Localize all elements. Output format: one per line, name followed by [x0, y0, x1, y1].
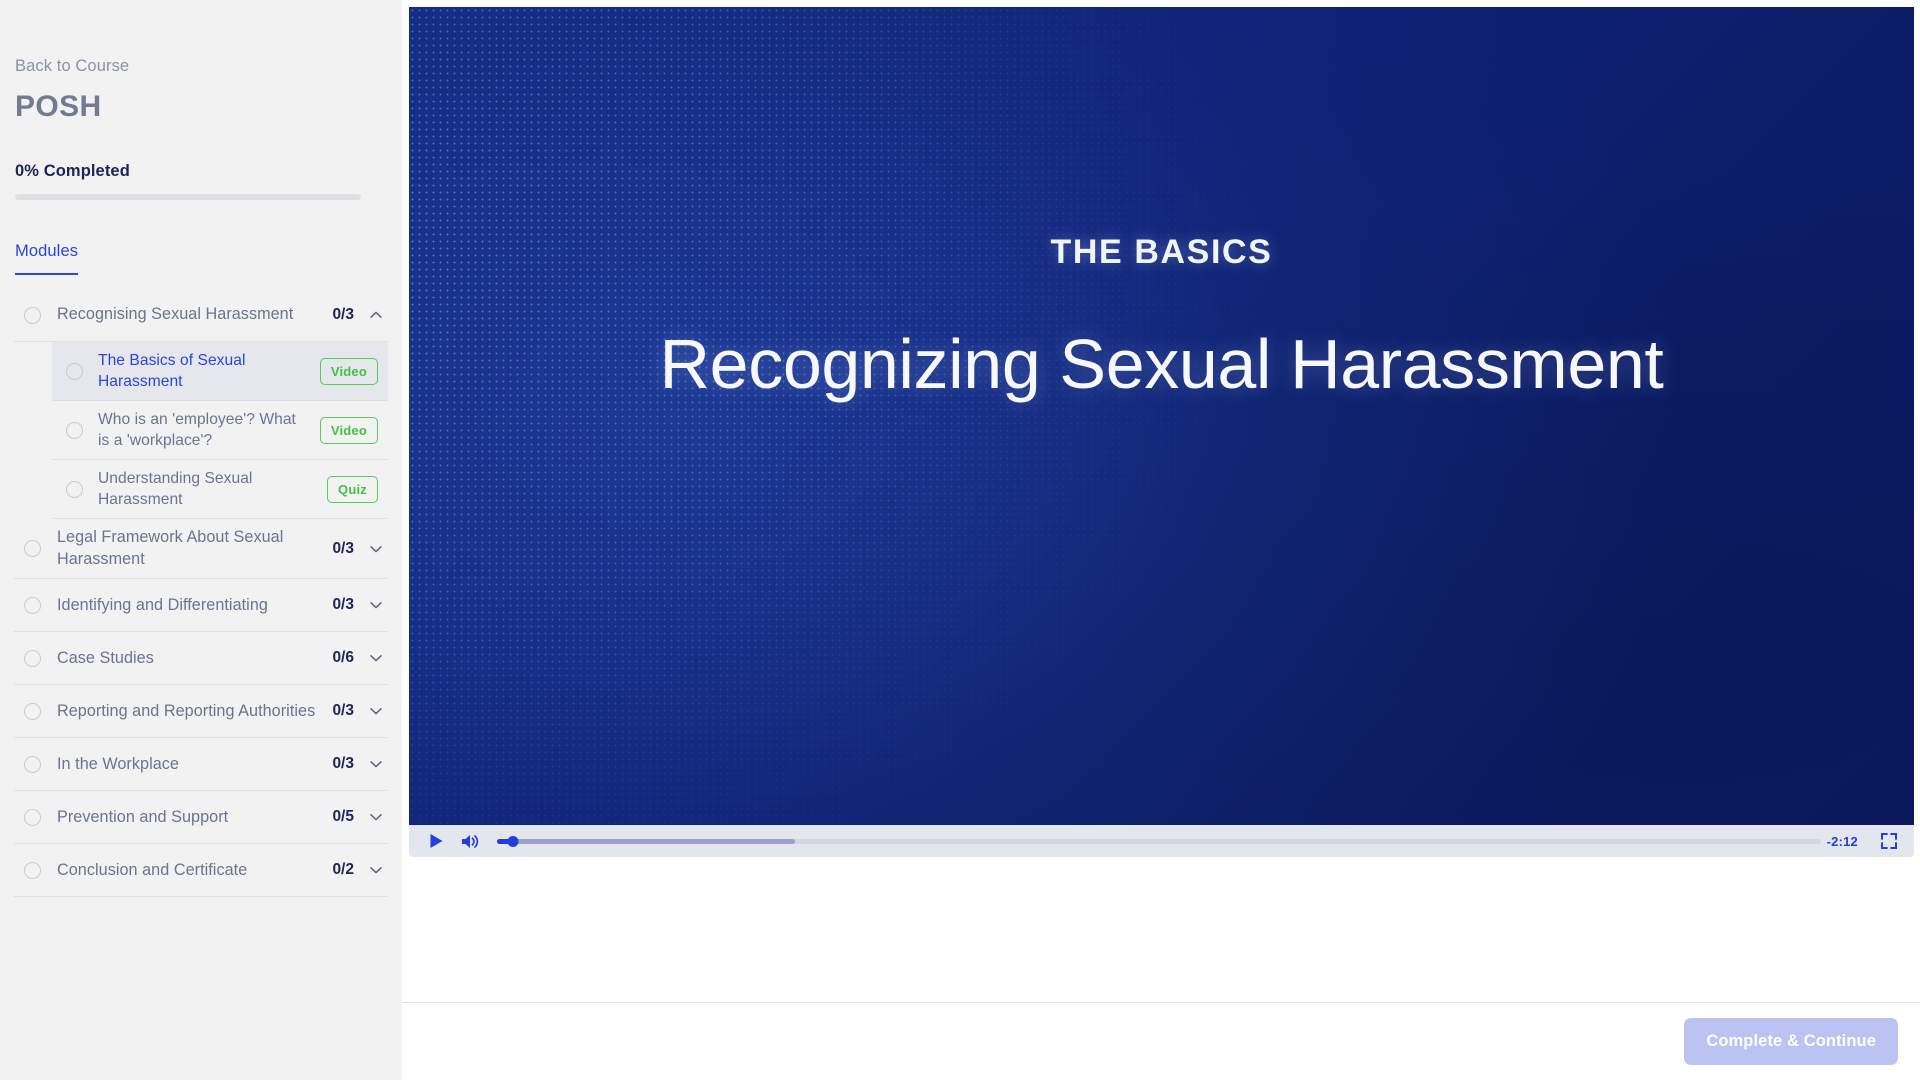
chevron-up-icon[interactable] — [368, 307, 384, 323]
chevron-down-icon[interactable] — [368, 597, 384, 613]
main-content: THE BASICS Recognizing Sexual Harassment — [402, 0, 1920, 1080]
module-progress-count: 0/3 — [332, 596, 354, 614]
chevron-down-icon[interactable] — [368, 756, 384, 772]
play-icon[interactable] — [419, 825, 453, 857]
seek-handle[interactable] — [507, 836, 518, 847]
module-row[interactable]: Prevention and Support0/5 — [14, 791, 388, 844]
lesson-title: Who is an 'employee'? What is a 'workpla… — [98, 409, 320, 451]
module-progress-count: 0/2 — [332, 861, 354, 879]
module-row[interactable]: Identifying and Differentiating0/3 — [14, 579, 388, 632]
volume-on-icon[interactable] — [453, 825, 487, 857]
module-row[interactable]: Reporting and Reporting Authorities0/3 — [14, 685, 388, 738]
seek-buffered — [497, 839, 795, 844]
module-title: Reporting and Reporting Authorities — [57, 701, 332, 723]
module-row[interactable]: Legal Framework About Sexual Harassment0… — [14, 519, 388, 579]
module-status-circle-icon — [24, 540, 41, 557]
chevron-down-icon[interactable] — [368, 650, 384, 666]
course-player-page: Back to Course POSH 0% Completed Modules… — [0, 0, 1920, 1080]
progress-bar — [15, 194, 361, 200]
module-status-circle-icon — [24, 756, 41, 773]
module-status-circle-icon — [24, 597, 41, 614]
course-sidebar: Back to Course POSH 0% Completed Modules… — [0, 0, 402, 1080]
module-status-circle-icon — [24, 307, 41, 324]
tab-modules[interactable]: Modules — [15, 242, 78, 275]
module-title: In the Workplace — [57, 754, 332, 776]
module-title: Recognising Sexual Harassment — [57, 304, 332, 326]
module-progress-count: 0/3 — [332, 306, 354, 324]
chevron-down-icon[interactable] — [368, 862, 384, 878]
module-progress-count: 0/3 — [332, 540, 354, 558]
modules-list: Recognising Sexual Harassment0/3The Basi… — [14, 289, 388, 897]
lesson-row[interactable]: The Basics of Sexual HarassmentVideo — [52, 342, 388, 401]
module-progress-count: 0/5 — [332, 808, 354, 826]
sidebar-tabs: Modules — [15, 242, 388, 275]
module-progress-count: 0/6 — [332, 649, 354, 667]
lesson-type-badge: Quiz — [327, 476, 378, 503]
chevron-down-icon[interactable] — [368, 703, 384, 719]
page-title: POSH — [15, 90, 388, 124]
lesson-title: Understanding Sexual Harassment — [98, 468, 327, 510]
complete-and-continue-button[interactable]: Complete & Continue — [1684, 1018, 1898, 1065]
back-to-course-link[interactable]: Back to Course — [15, 57, 388, 76]
slide-text-block: THE BASICS Recognizing Sexual Harassment — [409, 7, 1914, 825]
module-status-circle-icon — [24, 650, 41, 667]
lesson-row[interactable]: Who is an 'employee'? What is a 'workpla… — [52, 401, 388, 460]
lesson-list: The Basics of Sexual HarassmentVideoWho … — [14, 342, 388, 519]
module-row[interactable]: Recognising Sexual Harassment0/3 — [14, 289, 388, 342]
fullscreen-icon[interactable] — [1872, 825, 1906, 857]
slide-kicker: THE BASICS — [1051, 233, 1273, 272]
module-status-circle-icon — [24, 809, 41, 826]
module-row[interactable]: In the Workplace0/3 — [14, 738, 388, 791]
chevron-down-icon[interactable] — [368, 541, 384, 557]
lesson-type-badge: Video — [320, 417, 378, 444]
lesson-status-circle-icon — [66, 422, 83, 439]
video-player: THE BASICS Recognizing Sexual Harassment — [409, 7, 1914, 857]
module-title: Prevention and Support — [57, 807, 332, 829]
module-status-circle-icon — [24, 862, 41, 879]
lesson-type-badge: Video — [320, 358, 378, 385]
time-remaining-label: -2:12 — [1827, 834, 1858, 849]
chevron-down-icon[interactable] — [368, 809, 384, 825]
lesson-row[interactable]: Understanding Sexual HarassmentQuiz — [52, 460, 388, 519]
progress-label: 0% Completed — [15, 162, 388, 181]
seek-slider[interactable] — [497, 825, 1821, 857]
module-progress-count: 0/3 — [332, 755, 354, 773]
video-control-bar: -2:12 — [409, 825, 1914, 857]
module-title: Conclusion and Certificate — [57, 860, 332, 882]
lesson-title: The Basics of Sexual Harassment — [98, 350, 320, 392]
lesson-status-circle-icon — [66, 363, 83, 380]
module-row[interactable]: Case Studies0/6 — [14, 632, 388, 685]
lesson-status-circle-icon — [66, 481, 83, 498]
module-title: Identifying and Differentiating — [57, 595, 332, 617]
module-row[interactable]: Conclusion and Certificate0/2 — [14, 844, 388, 897]
module-status-circle-icon — [24, 703, 41, 720]
module-progress-count: 0/3 — [332, 702, 354, 720]
slide-heading: Recognizing Sexual Harassment — [660, 324, 1664, 404]
module-title: Legal Framework About Sexual Harassment — [57, 527, 332, 570]
video-stage[interactable]: THE BASICS Recognizing Sexual Harassment — [409, 7, 1914, 825]
module-title: Case Studies — [57, 648, 332, 670]
page-footer: Complete & Continue — [402, 1003, 1920, 1080]
